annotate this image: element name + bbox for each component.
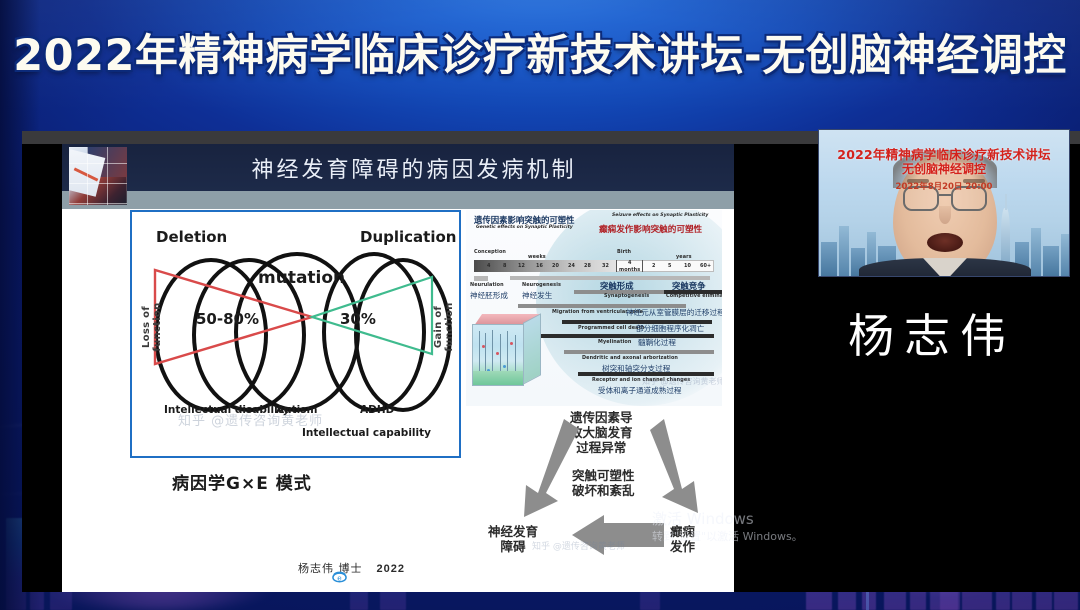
speaker-nose [939,206,951,224]
venn-foot-adhd: ADHD [360,404,394,416]
development-timeline-figure: 遗传因素影响突触的可塑性 Genetic effects on Synaptic… [466,210,722,406]
timeline-row-competitive-cn: 突触竞争 [672,280,706,292]
timeline-tick-y5: 5 [668,263,672,269]
video-overlay-subtitle: 无创脑神经调控 [819,160,1069,177]
timeline-tick-y2: 2 [652,263,656,269]
slide-header-band [62,191,734,209]
timeline-tick-y10: 10 [684,263,691,269]
venn-label-mutation: mutation [258,270,320,286]
timeline-unit-weeks: weeks [528,254,546,260]
timeline-row-neurogenesis-en: Neurogenesis [522,282,561,288]
timeline-title2-en: Seizure effects on Synaptic Plasticity [612,213,708,218]
venn-diagram-panel: Deletion Duplication mutation 50-80% 30%… [130,210,461,458]
timeline-axis-start: Conception [474,249,506,255]
timeline-watermark: 知乎 @遗传咨询黄老师 [642,376,722,387]
speaker-mouth [927,233,963,252]
timeline-bar-arborization [564,350,714,354]
flow-arrow-down-right [650,419,698,513]
timeline-unit-years: years [676,254,692,260]
venn-value-right-percent: 30% [340,310,376,328]
timeline-axis-birth: Birth [617,249,631,255]
timeline-row-celldeath-en: Programmed cell death [578,325,645,331]
timeline-row-neurulation-en: Neurulation [470,282,504,288]
slide-credit: 杨志伟 博士2022 [298,560,405,576]
timeline-row-synaptogenesis-cn: 突触形成 [600,280,634,292]
slide-credit-name: 杨志伟 博士 [298,562,363,575]
timeline-title-en: Genetic effects on Synaptic Plasticity [476,225,573,230]
timeline-title2-cn: 癫痫发作影响突触的可塑性 [599,223,702,235]
venn-watermark: 知乎 @遗传咨询黄老师 [178,410,323,429]
presentation-slide: 神经发育障碍的病因发病机制 [62,144,734,592]
cortex-block-illustration [472,314,542,388]
timeline-tick-w12: 12 [518,263,525,269]
timeline-tick-m4: 4 [628,260,632,266]
venn-axis-loss: Loss of function [141,285,163,369]
slide-footer-model: 病因学G×E 模式 [172,469,312,494]
slide-title: 神经发育障碍的病因发病机制 [134,151,694,185]
timeline-row-neurulation-cn: 神经胚形成 [470,290,508,301]
timeline-row-myelination-en: Myelination [598,339,631,345]
venn-label-duplication: Duplication [360,228,456,246]
venn-label-deletion: Deletion [156,228,227,246]
timeline-tick-w16: 16 [536,263,543,269]
speaker-video-tile[interactable]: 2022年精神病学临床诊疗新技术讲坛 无创脑神经调控 2022年8月20日 20… [818,129,1070,277]
timeline-bar-myelination [540,334,714,338]
flow-arrow-down-left [524,419,579,517]
timeline-tick-w20: 20 [552,263,559,269]
causal-flow-diagram: 遗传因素导 致大脑发育 过程异常 突触可塑性 破坏和紊乱 神经发育 障碍 癫痫 [452,405,734,592]
slide-header-photo [69,147,127,205]
timeline-tick-w4: 4 [487,263,491,269]
timeline-bar-neurulation [474,276,488,281]
timeline-tick-w28: 28 [584,263,591,269]
timeline-tick-y60: 60+ [700,263,711,269]
slide-body-watermark: 知乎 @遗传咨询黄老师 [532,539,625,552]
slide-body: Deletion Duplication mutation 50-80% 30%… [62,209,734,592]
timeline-unit-months: months [619,267,640,273]
page-title: 2022年精神病学临床诊疗新技术讲坛-无创脑神经调控 [13,35,1067,78]
timeline-row-myelination-cn: 髓鞘化过程 [638,337,676,348]
screen-root: 2022年精神病学临床诊疗新技术讲坛-无创脑神经调控 神经发育障碍的病因发病机制 [0,0,1080,610]
slide-credit-year: 2022 [377,563,405,575]
timeline-row-neurogenesis-cn: 神经发生 [522,290,552,301]
flow-arrows [452,405,734,592]
timeline-tick-w8: 8 [503,263,507,269]
timeline-row-synaptogenesis-en: Synaptogenesis [604,293,649,299]
internet-explorer-icon: e [332,569,347,584]
timeline-axis-prenatal [474,260,616,272]
page-header: 2022年精神病学临床诊疗新技术讲坛-无创脑神经调控 [0,0,1080,112]
svg-text:e: e [337,573,342,582]
video-overlay-date: 2022年8月20日 20:00 [819,180,1069,192]
timeline-row-arborization-en: Dendritic and axonal arborization [582,355,678,361]
venn-axis-gain: Gain of function [433,285,455,369]
timeline-row-migration-cn: 神经元从室管膜层的迁移过程 [626,307,722,318]
timeline-row-competitive-en: Competitive elimination [666,293,722,299]
timeline-row-celldeath-cn: 部分细胞程序化凋亡 [636,323,704,334]
timeline-tick-w32: 32 [602,263,609,269]
speaker-name-label: 杨志伟 [848,300,1016,366]
venn-value-left-percent: 50-80% [196,310,259,328]
timeline-tick-w24: 24 [568,263,575,269]
